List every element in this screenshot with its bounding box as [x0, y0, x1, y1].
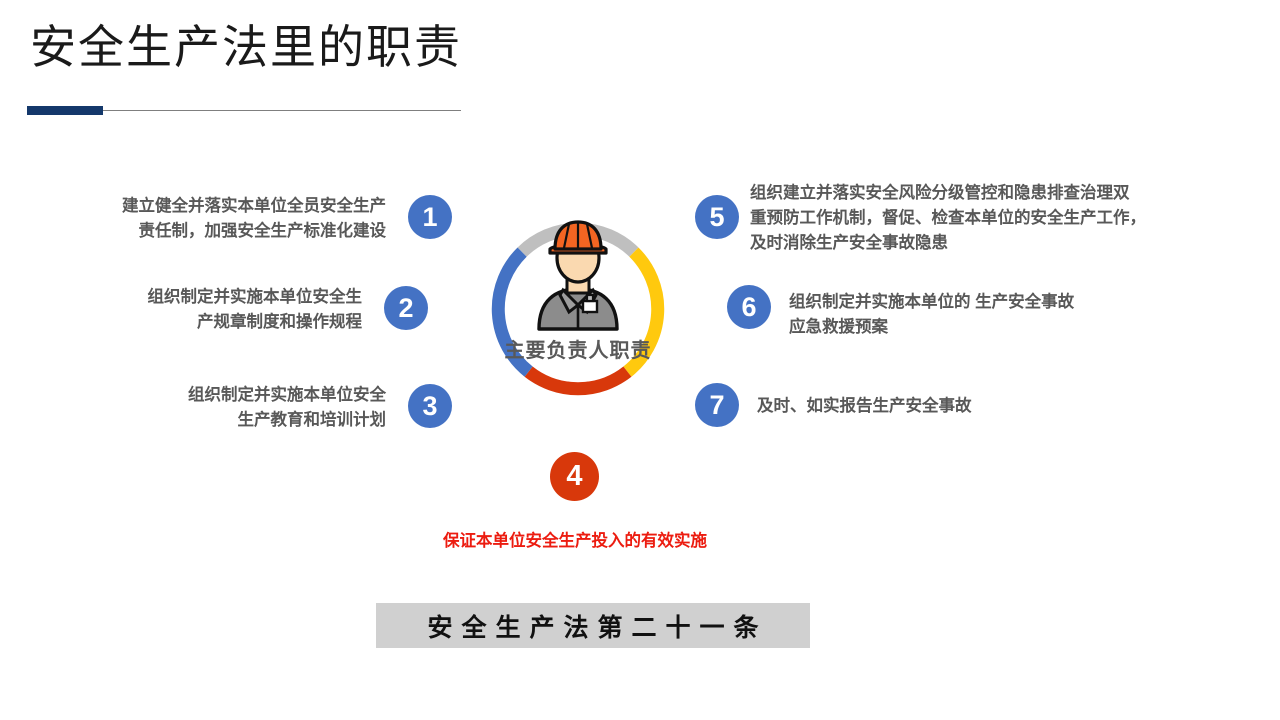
item-text-7: 及时、如实报告生产安全事故 [757, 394, 1187, 419]
item-text-2: 组织制定并实施本单位安全生 产规章制度和操作规程 [20, 285, 362, 335]
footer-law-article-banner: 安全生产法第二十一条 [376, 603, 810, 648]
item-badge-1[interactable]: 1 [408, 195, 452, 239]
item-badge-5[interactable]: 5 [695, 195, 739, 239]
page-title: 安全生产法里的职责 [30, 20, 462, 76]
item-text-6: 组织制定并实施本单位的 生产安全事故 应急救援预案 [789, 290, 1219, 340]
item-badge-6[interactable]: 6 [727, 285, 771, 329]
item-text-3: 组织制定并实施本单位安全 生产教育和培训计划 [20, 383, 386, 433]
item-badge-3[interactable]: 3 [408, 384, 452, 428]
item-text-1: 建立健全并落实本单位全员安全生产 责任制，加强安全生产标准化建设 [20, 194, 386, 244]
worker-hardhat-icon [519, 213, 637, 331]
item-badge-7[interactable]: 7 [695, 383, 739, 427]
item-text-5: 组织建立并落实安全风险分级管控和隐患排查治理双 重预防工作机制，督促、检查本单位… [750, 181, 1250, 256]
title-accent-bar [27, 106, 103, 115]
item-badge-4[interactable]: 4 [550, 452, 599, 501]
center-ring-label: 主要负责人职责 [471, 334, 685, 363]
ring-arc-red [529, 372, 628, 389]
slide-canvas: 安全生产法里的职责 [0, 0, 1280, 720]
item-badge-2[interactable]: 2 [384, 286, 428, 330]
item-text-4: 保证本单位安全生产投入的有效实施 [375, 529, 775, 554]
